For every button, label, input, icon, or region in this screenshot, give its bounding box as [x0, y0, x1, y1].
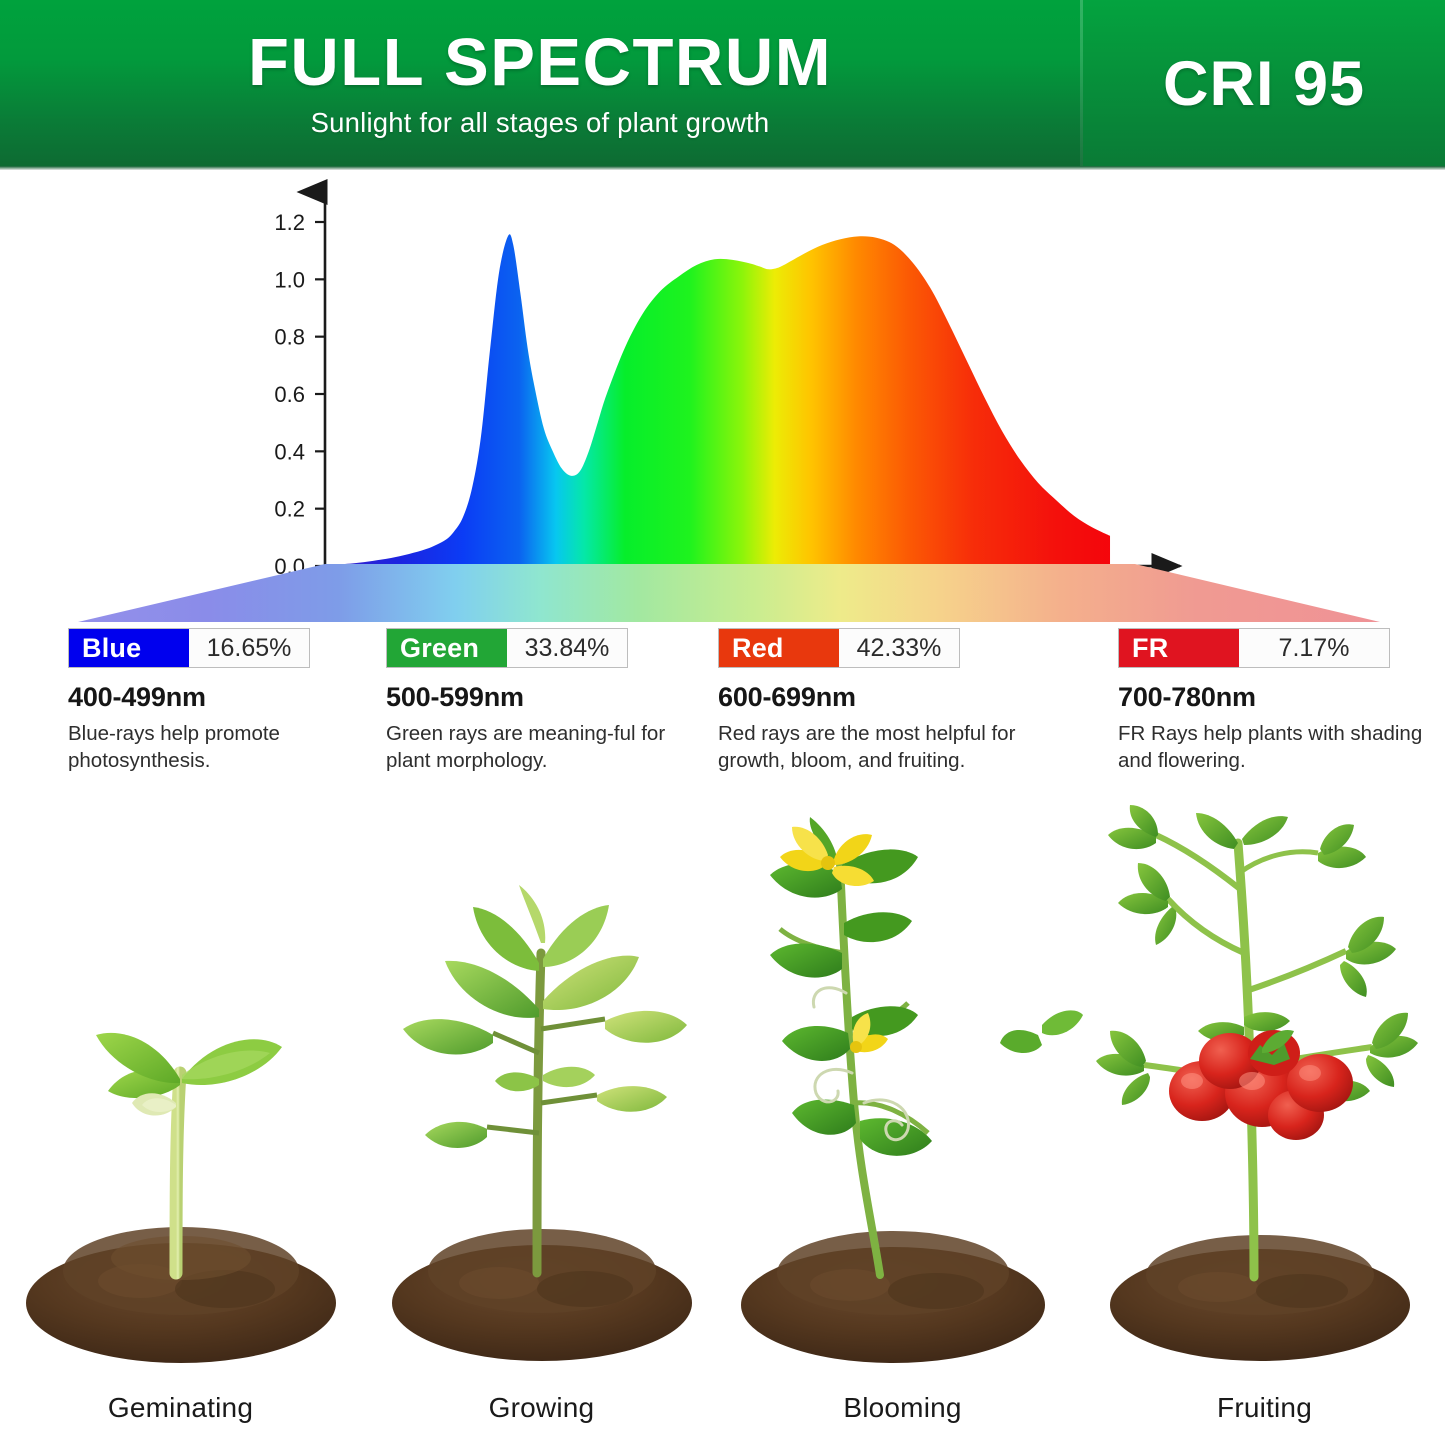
- legend-description-red: Red rays are the most helpful for growth…: [718, 721, 1038, 774]
- cri-panel: CRI 95: [1083, 0, 1445, 168]
- seedling-icon: [0, 803, 361, 1368]
- legend-badge-fr: FR 7.17%: [1118, 628, 1390, 668]
- y-tick-label: 1.2: [274, 210, 305, 235]
- stage-fruiting: Fruiting: [1084, 795, 1445, 1430]
- legend-badge-percent-blue: 16.65%: [189, 629, 309, 667]
- y-axis-tick-labels: 0.00.20.40.60.81.01.2: [274, 210, 305, 579]
- stage-blooming: Blooming: [722, 795, 1083, 1430]
- header-main-panel: FULL SPECTRUM Sunlight for all stages of…: [0, 0, 1080, 168]
- legend-card-blue: Blue 16.65% 400-499nm Blue-rays help pro…: [68, 628, 398, 774]
- y-axis-ticks: [315, 222, 325, 566]
- y-tick-label: 0.8: [274, 325, 305, 350]
- spd-curve-fill: [337, 234, 1110, 566]
- y-tick-label: 0.6: [274, 382, 305, 407]
- spectrum-band: [0, 560, 1445, 630]
- legend-range-green: 500-599nm: [386, 682, 716, 713]
- header-banner: FULL SPECTRUM Sunlight for all stages of…: [0, 0, 1445, 168]
- young-plant-icon: [361, 803, 722, 1368]
- y-tick-label: 1.0: [274, 267, 305, 292]
- page-title: FULL SPECTRUM: [248, 29, 832, 97]
- spectrum-band-trapezoid: [78, 564, 1380, 622]
- stage-label-fruiting: Fruiting: [1084, 1392, 1445, 1424]
- legend-range-red: 600-699nm: [718, 682, 1048, 713]
- legend-badge-percent-green: 33.84%: [507, 629, 627, 667]
- legend-badge-blue: Blue 16.65%: [68, 628, 310, 668]
- legend-badge-percent-fr: 7.17%: [1239, 629, 1389, 667]
- legend-range-blue: 400-499nm: [68, 682, 398, 713]
- legend-card-green: Green 33.84% 500-599nm Green rays are me…: [386, 628, 716, 774]
- stage-growing: Growing: [361, 795, 722, 1430]
- legend-badge-name-fr: FR: [1119, 629, 1239, 667]
- legend-badge-green: Green 33.84%: [386, 628, 628, 668]
- growth-stages: Geminating: [0, 795, 1445, 1430]
- legend-card-red: Red 42.33% 600-699nm Red rays are the mo…: [718, 628, 1048, 774]
- stage-geminating: Geminating: [0, 795, 361, 1430]
- tomato-plant-icon: [1084, 803, 1445, 1368]
- spectrum-chart: 0.00.20.40.60.81.01.2 400500600700800: [0, 170, 1445, 620]
- stage-label-geminating: Geminating: [0, 1392, 361, 1424]
- legend-badge-name-red: Red: [719, 629, 839, 667]
- spectrum-chart-svg: 0.00.20.40.60.81.01.2 400500600700800: [0, 170, 1445, 620]
- legend-badge-red: Red 42.33%: [718, 628, 960, 668]
- page-subtitle: Sunlight for all stages of plant growth: [311, 107, 770, 139]
- legend-description-fr: FR Rays help plants with shading and flo…: [1118, 721, 1438, 774]
- legend-description-green: Green rays are meaning-ful for plant mor…: [386, 721, 706, 774]
- legend-badge-percent-red: 42.33%: [839, 629, 959, 667]
- flowering-vine-icon: [722, 803, 1083, 1368]
- legend-badge-name-green: Green: [387, 629, 507, 667]
- y-tick-label: 0.2: [274, 497, 305, 522]
- y-tick-label: 0.4: [274, 439, 305, 464]
- tomato-cluster: [1169, 1030, 1353, 1140]
- spectrum-legend: Blue 16.65% 400-499nm Blue-rays help pro…: [0, 628, 1445, 793]
- stage-label-growing: Growing: [361, 1392, 722, 1424]
- legend-card-fr: FR 7.17% 700-780nm FR Rays help plants w…: [1118, 628, 1445, 774]
- legend-range-fr: 700-780nm: [1118, 682, 1445, 713]
- legend-badge-name-blue: Blue: [69, 629, 189, 667]
- legend-description-blue: Blue-rays help promote photosynthesis.: [68, 721, 388, 774]
- stage-label-blooming: Blooming: [722, 1392, 1083, 1424]
- spectrum-band-svg: [0, 560, 1445, 630]
- cri-value: CRI 95: [1163, 48, 1365, 120]
